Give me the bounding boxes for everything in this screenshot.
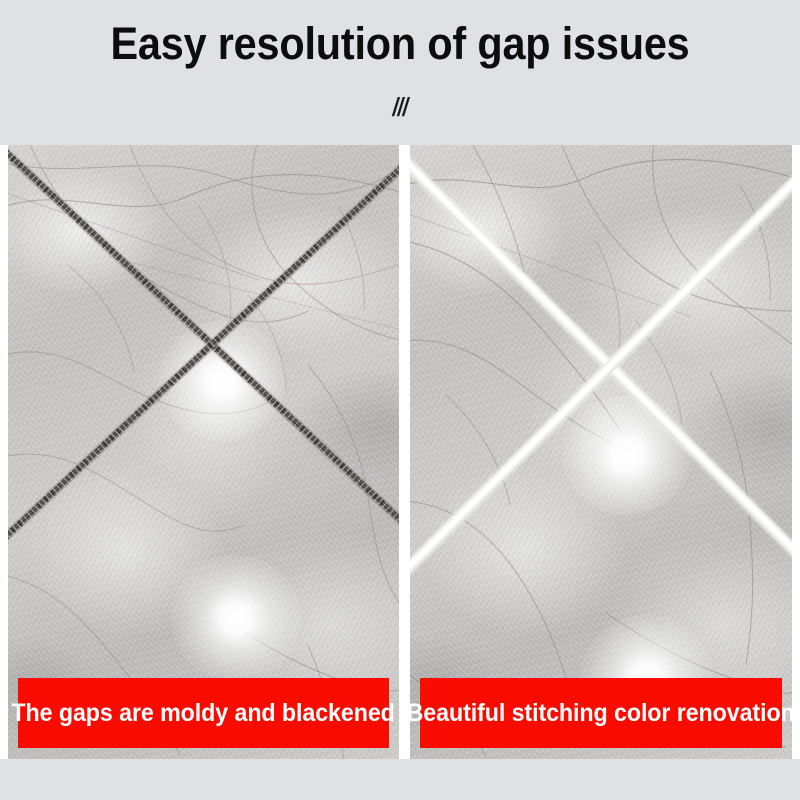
after-caption-text: Beautiful stitching color renovation <box>410 699 792 727</box>
page-title: Easy resolution of gap issues <box>32 17 768 71</box>
marble-veining-before <box>8 145 399 759</box>
after-photo-panel: Beautiful stitching color renovation <box>410 145 792 759</box>
product-comparison-page: Easy resolution of gap issues /// <box>0 0 800 800</box>
before-after-comparison: The gaps are moldy and blackened <box>0 145 800 759</box>
title-divider-slashes: /// <box>80 92 720 122</box>
page-header: Easy resolution of gap issues /// <box>0 0 800 145</box>
before-caption-bar: The gaps are moldy and blackened <box>18 678 389 748</box>
before-photo-panel: The gaps are moldy and blackened <box>8 145 399 759</box>
page-footer-strip <box>0 759 800 800</box>
before-caption-text: The gaps are moldy and blackened <box>12 699 395 727</box>
after-caption-bar: Beautiful stitching color renovation <box>420 678 782 748</box>
